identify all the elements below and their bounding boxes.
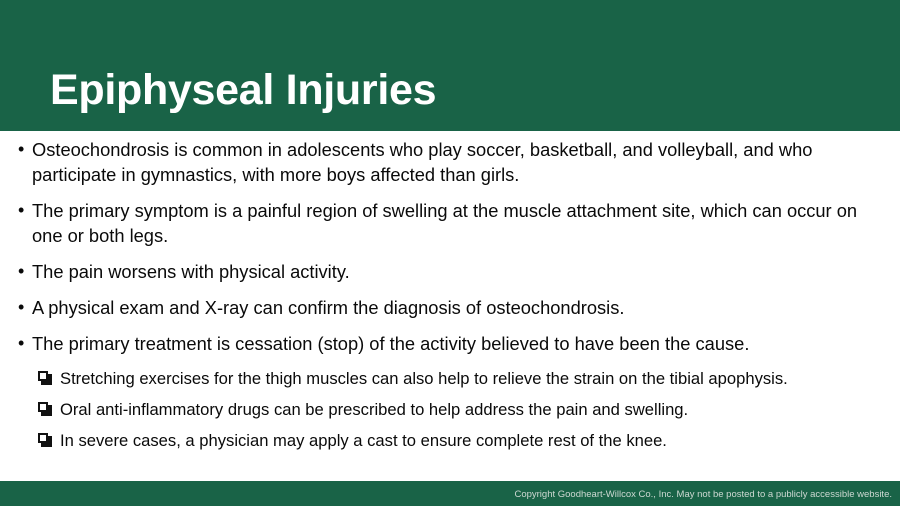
page-title: Epiphyseal Injuries xyxy=(50,66,436,114)
sub-list-item: Stretching exercises for the thigh muscl… xyxy=(16,367,888,390)
copyright-notice: Copyright Goodheart-Willcox Co., Inc. Ma… xyxy=(514,489,892,501)
list-item-text: The primary treatment is cessation (stop… xyxy=(32,331,888,356)
bullet-dot-icon: • xyxy=(18,295,24,320)
bullet-dot-icon: • xyxy=(18,259,24,284)
bullet-dot-icon: • xyxy=(18,198,24,223)
presentation-slide: Epiphyseal Injuries • Osteochondrosis is… xyxy=(0,0,900,506)
sub-list-item-text: In severe cases, a physician may apply a… xyxy=(60,429,888,452)
hollow-square-icon xyxy=(38,402,50,414)
sub-list-item-text: Stretching exercises for the thigh muscl… xyxy=(60,367,888,390)
sub-bullet-list: Stretching exercises for the thigh muscl… xyxy=(16,367,888,452)
list-item-text: The primary symptom is a painful region … xyxy=(32,198,888,248)
hollow-square-icon xyxy=(38,433,50,445)
sub-list-item-text: Oral anti-inflammatory drugs can be pres… xyxy=(60,398,888,421)
bullet-dot-icon: • xyxy=(18,137,24,162)
slide-body: • Osteochondrosis is common in adolescen… xyxy=(0,131,900,506)
sub-list-item: In severe cases, a physician may apply a… xyxy=(16,429,888,452)
list-item: • Osteochondrosis is common in adolescen… xyxy=(16,137,888,187)
hollow-square-icon xyxy=(38,371,50,383)
bullet-list: • Osteochondrosis is common in adolescen… xyxy=(16,137,888,460)
list-item-text: A physical exam and X-ray can confirm th… xyxy=(32,295,888,320)
list-item: • The primary symptom is a painful regio… xyxy=(16,198,888,248)
list-item: • The primary treatment is cessation (st… xyxy=(16,331,888,356)
list-item-text: The pain worsens with physical activity. xyxy=(32,259,888,284)
list-item: • The pain worsens with physical activit… xyxy=(16,259,888,284)
bullet-dot-icon: • xyxy=(18,331,24,356)
list-item: • A physical exam and X-ray can confirm … xyxy=(16,295,888,320)
list-item-text: Osteochondrosis is common in adolescents… xyxy=(32,137,888,187)
sub-list-item: Oral anti-inflammatory drugs can be pres… xyxy=(16,398,888,421)
